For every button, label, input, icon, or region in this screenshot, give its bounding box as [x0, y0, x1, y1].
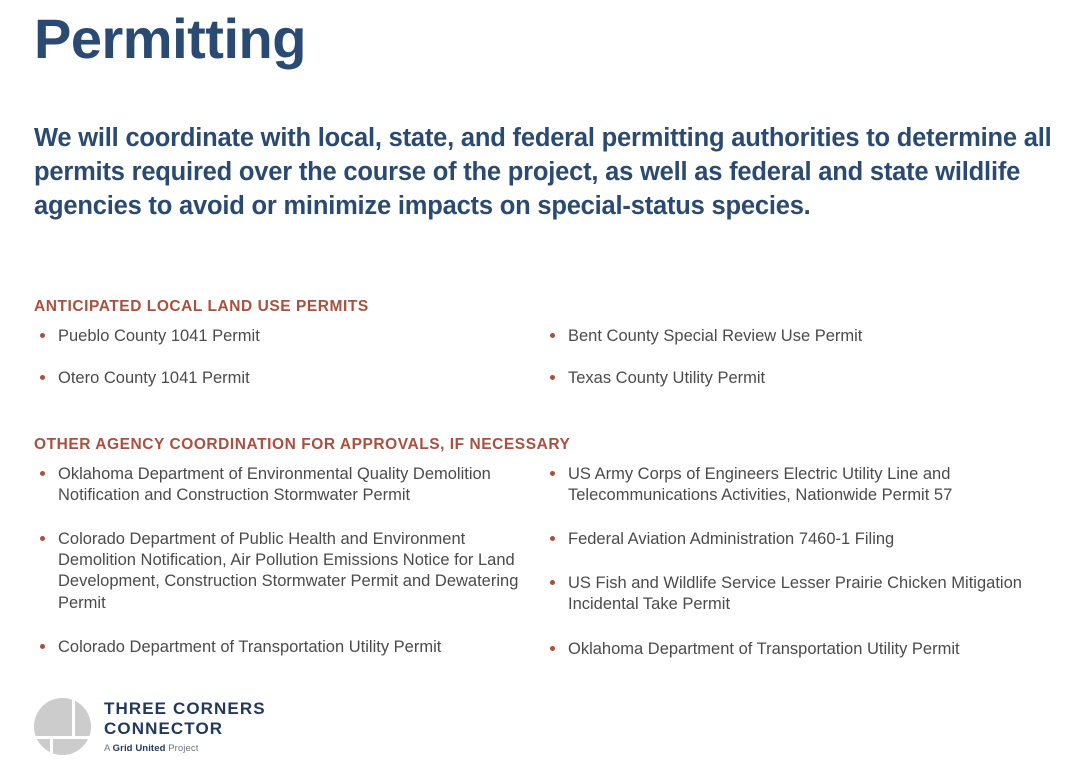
section-other-agency-coordination: OTHER AGENCY COORDINATION FOR APPROVALS,…	[34, 436, 1048, 683]
list-item: Oklahoma Department of Transportation Ut…	[544, 639, 1054, 660]
bullet-list-left: Oklahoma Department of Environmental Qua…	[34, 464, 536, 658]
logo-text-block: THREE CORNERS CONNECTOR A Grid United Pr…	[104, 699, 266, 753]
section-anticipated-local-land-use-permits: ANTICIPATED LOCAL LAND USE PERMITS Puebl…	[34, 298, 1048, 389]
bullet-list-left: Pueblo County 1041 Permit Otero County 1…	[34, 326, 536, 389]
bullet-list-right: US Army Corps of Engineers Electric Util…	[544, 464, 1054, 660]
logo-tagline-prefix: A	[104, 743, 113, 754]
section-columns: Oklahoma Department of Environmental Qua…	[34, 464, 1048, 683]
list-item: Federal Aviation Administration 7460-1 F…	[544, 529, 1054, 550]
logo-tagline: A Grid United Project	[104, 744, 266, 754]
column-left: Oklahoma Department of Environmental Qua…	[34, 464, 544, 681]
list-item: Pueblo County 1041 Permit	[34, 326, 536, 347]
list-item: Bent County Special Review Use Permit	[544, 326, 1054, 347]
logo-tagline-suffix: Project	[165, 743, 198, 754]
column-right: US Army Corps of Engineers Electric Util…	[544, 464, 1054, 683]
column-right: Bent County Special Review Use Permit Te…	[544, 326, 1054, 389]
logo-navy-quadrant	[34, 739, 50, 755]
list-item: Oklahoma Department of Environmental Qua…	[34, 464, 536, 506]
bullet-list-right: Bent County Special Review Use Permit Te…	[544, 326, 1054, 389]
list-item: US Army Corps of Engineers Electric Util…	[544, 464, 1054, 506]
section-heading: OTHER AGENCY COORDINATION FOR APPROVALS,…	[34, 436, 1048, 454]
list-item: Colorado Department of Transportation Ut…	[34, 637, 536, 658]
list-item: Texas County Utility Permit	[544, 368, 1054, 389]
logo-gold-quadrant	[75, 698, 91, 736]
brand-logo: THREE CORNERS CONNECTOR A Grid United Pr…	[34, 698, 266, 755]
logo-tagline-brand: Grid United	[113, 743, 166, 754]
logo-cream-quadrant	[34, 698, 72, 736]
list-item: Colorado Department of Public Health and…	[34, 529, 536, 613]
lead-paragraph: We will coordinate with local, state, an…	[34, 122, 1054, 224]
logo-brick-quadrant	[53, 739, 91, 755]
section-columns: Pueblo County 1041 Permit Otero County 1…	[34, 326, 1048, 389]
list-item: US Fish and Wildlife Service Lesser Prai…	[544, 573, 1054, 615]
page-title: Permitting	[34, 6, 306, 72]
three-corners-circle-icon	[34, 698, 91, 755]
column-left: Pueblo County 1041 Permit Otero County 1…	[34, 326, 544, 389]
slide-permitting: Permitting We will coordinate with local…	[0, 0, 1080, 764]
list-item: Otero County 1041 Permit	[34, 368, 536, 389]
logo-wordmark: THREE CORNERS CONNECTOR	[104, 699, 266, 739]
section-heading: ANTICIPATED LOCAL LAND USE PERMITS	[34, 298, 1048, 316]
